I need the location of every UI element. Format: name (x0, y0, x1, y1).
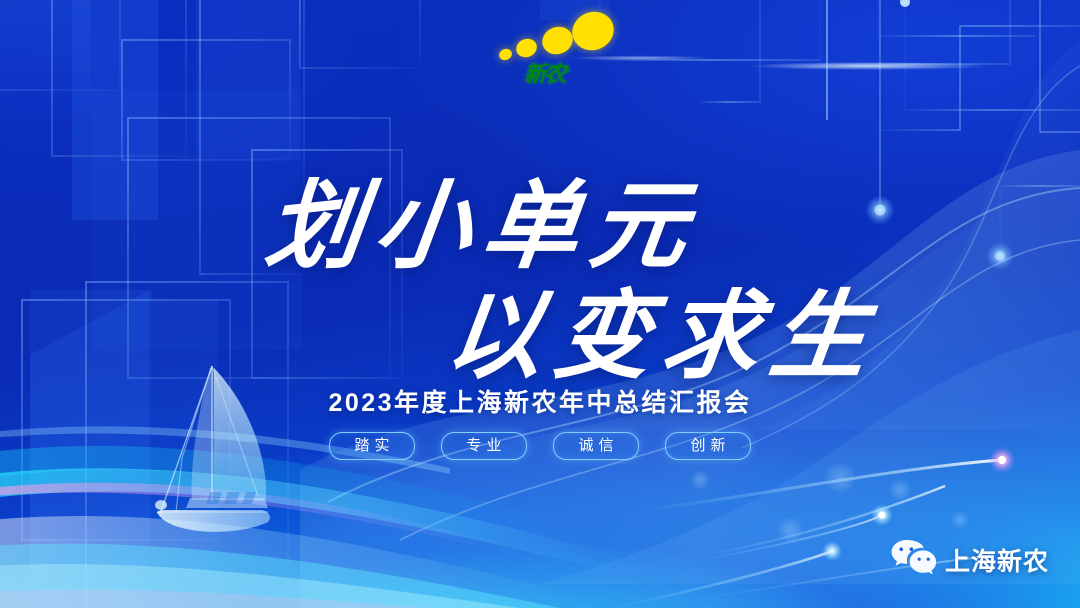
value-tag-list: 踏实 专业 诚信 创新 (0, 432, 1080, 460)
value-tag-1[interactable]: 专业 (441, 432, 527, 460)
poster-content: 划小单元 以变求生 2023年度上海新农年中总结汇报会 踏实 专业 诚信 创新 (0, 0, 1080, 608)
event-poster: 新农® 划小单元 以变求生 2023年度上海新农年中总结汇报会 踏实 专业 诚信… (0, 0, 1080, 608)
watermark-label: 上海新农 (945, 542, 1049, 578)
wechat-watermark: 上海新农 (890, 538, 1049, 581)
value-tag-2[interactable]: 诚信 (553, 432, 639, 460)
event-subtitle: 2023年度上海新农年中总结汇报会 (0, 383, 1080, 419)
title-line-2: 以变求生 (439, 258, 888, 397)
value-tag-0[interactable]: 踏实 (329, 432, 415, 460)
wechat-icon (890, 538, 936, 581)
value-tag-3[interactable]: 创新 (665, 432, 751, 460)
